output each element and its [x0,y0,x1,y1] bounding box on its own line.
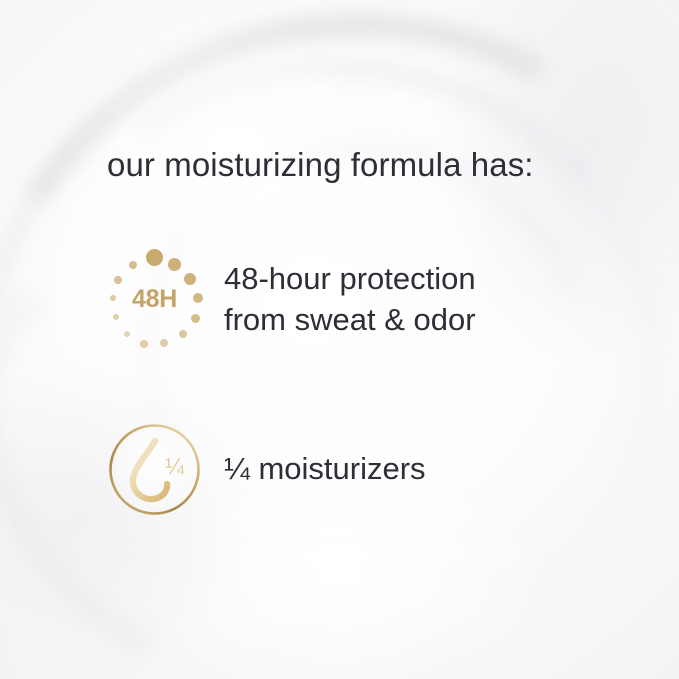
feature-text-moisturizers: ¼ moisturizers [224,449,426,489]
48h-dotted-badge-icon: 48H [103,248,206,351]
droplet-fraction-label: ¼ [165,453,185,479]
droplet-ring-graphic: ¼ [103,418,206,521]
badge-48h-label: 48H [103,248,206,351]
feature-line: from sweat & odor [224,300,476,340]
feature-line: ¼ moisturizers [224,449,426,489]
feature-line: 48-hour protection [224,259,476,299]
feature-row-moisturizers: ¼ ¼ moisturizers [103,418,426,521]
quarter-moisturizer-droplet-icon: ¼ [103,418,206,521]
feature-text-protection: 48-hour protection from sweat & odor [224,259,476,340]
promo-graphic: our moisturizing formula has: 48H 48-hou… [0,0,679,679]
page-title: our moisturizing formula has: [107,146,534,184]
feature-row-protection: 48H 48-hour protection from sweat & odor [103,248,476,351]
content-layer: our moisturizing formula has: 48H 48-hou… [0,0,679,679]
